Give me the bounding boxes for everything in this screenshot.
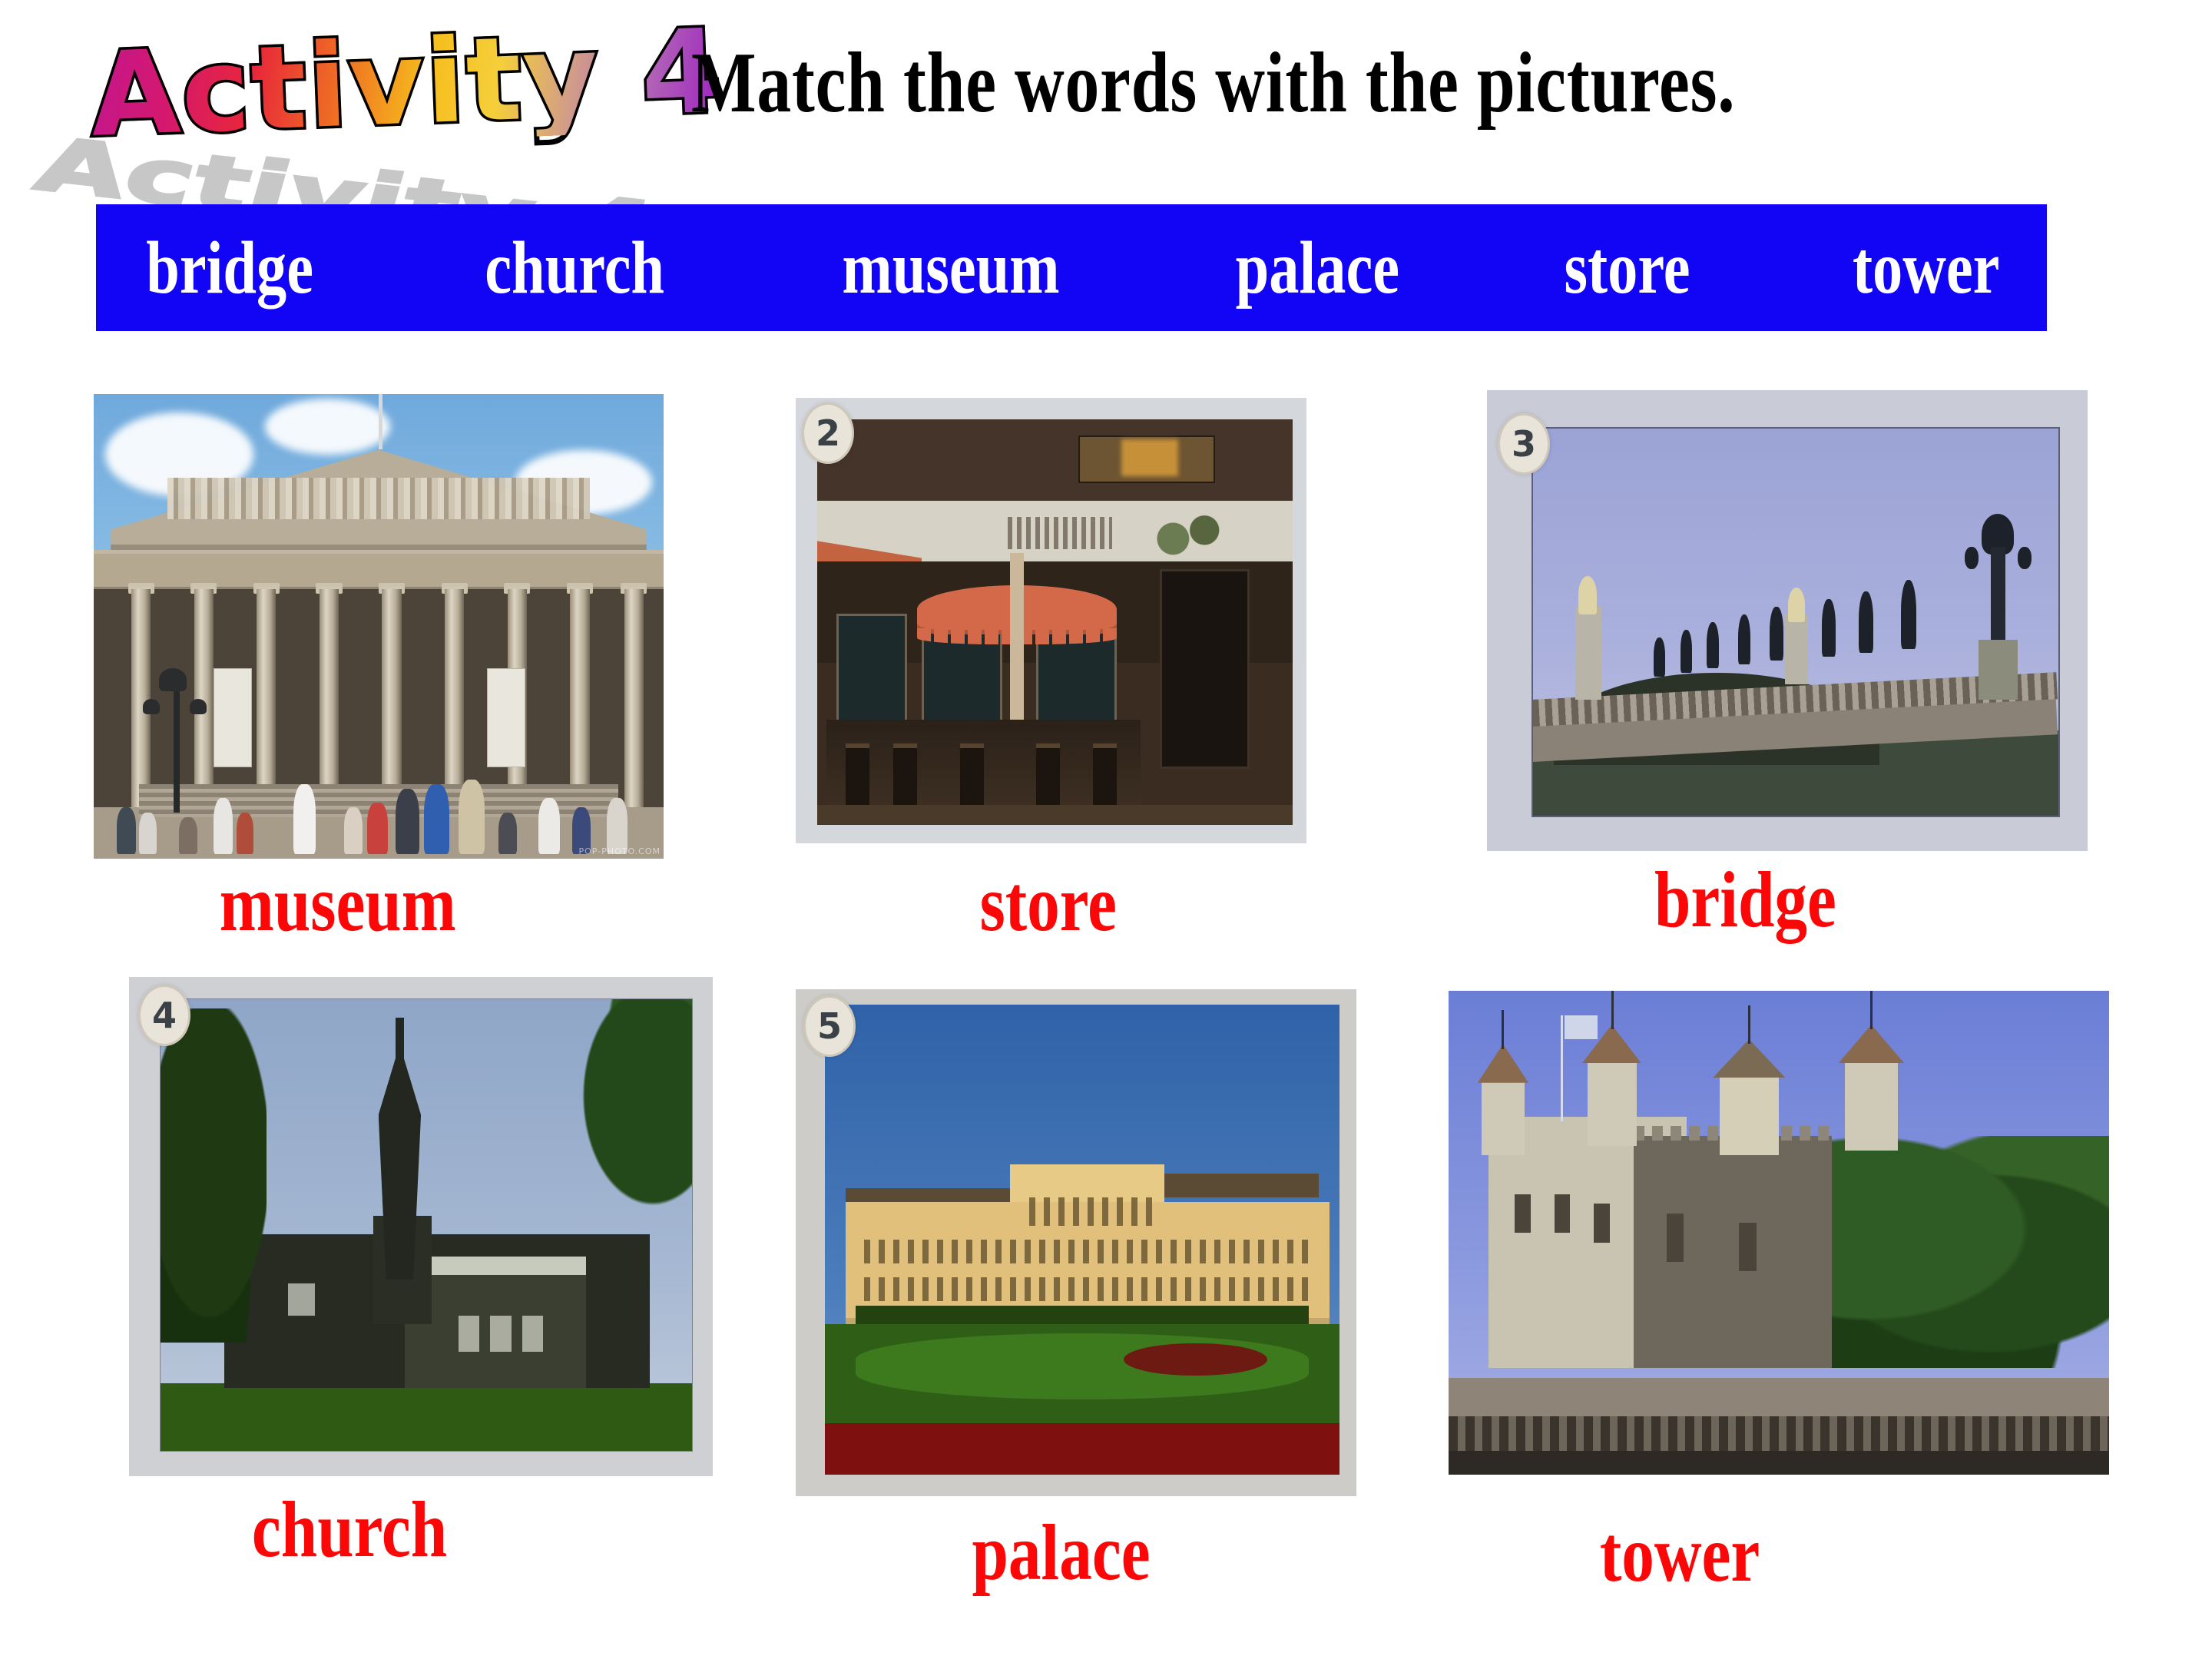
caption-bridge: bridge — [1654, 860, 1836, 940]
word-bank-item-bridge[interactable]: bridge — [146, 230, 313, 306]
picture-number-badge-2: 2 — [802, 402, 854, 464]
word-bank: bridge church museum palace store tower — [96, 204, 2047, 331]
photo-watermark: POP-PHOTO.COM — [579, 846, 661, 856]
word-bank-item-museum[interactable]: museum — [843, 230, 1060, 306]
caption-tower: tower — [1600, 1515, 1760, 1594]
slide-header: Activity 4 Activity 4 Activity 4 Match t… — [0, 0, 2212, 192]
activity-wordart-fill: Activity 4 — [88, 14, 725, 153]
photo-church[interactable]: 4 — [129, 977, 713, 1476]
caption-palace: palace — [972, 1513, 1150, 1593]
word-bank-item-palace[interactable]: palace — [1236, 230, 1399, 306]
picture-number-badge-5: 5 — [803, 995, 856, 1057]
picture-number-badge-4: 4 — [138, 985, 190, 1046]
caption-store: store — [980, 864, 1117, 944]
photo-palace[interactable]: 5 — [796, 989, 1356, 1496]
photo-museum[interactable]: POP-PHOTO.COM — [94, 394, 664, 859]
photo-bridge[interactable]: 3 — [1487, 390, 2088, 851]
page-title: Match the words with the pictures. — [691, 40, 1735, 126]
caption-church: church — [252, 1490, 447, 1570]
word-bank-item-store[interactable]: store — [1564, 230, 1690, 306]
picture-grid: POP-PHOTO.COM museum 2 — [0, 353, 2212, 1659]
picture-number-badge-3: 3 — [1498, 413, 1550, 475]
slide-canvas: Activity 4 Activity 4 Activity 4 Match t… — [0, 0, 2212, 1659]
activity-wordart: Activity 4 Activity 4 Activity 4 — [77, 14, 691, 179]
word-bank-item-church[interactable]: church — [485, 230, 664, 306]
photo-store[interactable]: 2 — [796, 398, 1306, 843]
caption-museum: museum — [220, 864, 456, 944]
photo-tower[interactable] — [1449, 991, 2109, 1475]
word-bank-item-tower[interactable]: tower — [1853, 230, 2000, 306]
